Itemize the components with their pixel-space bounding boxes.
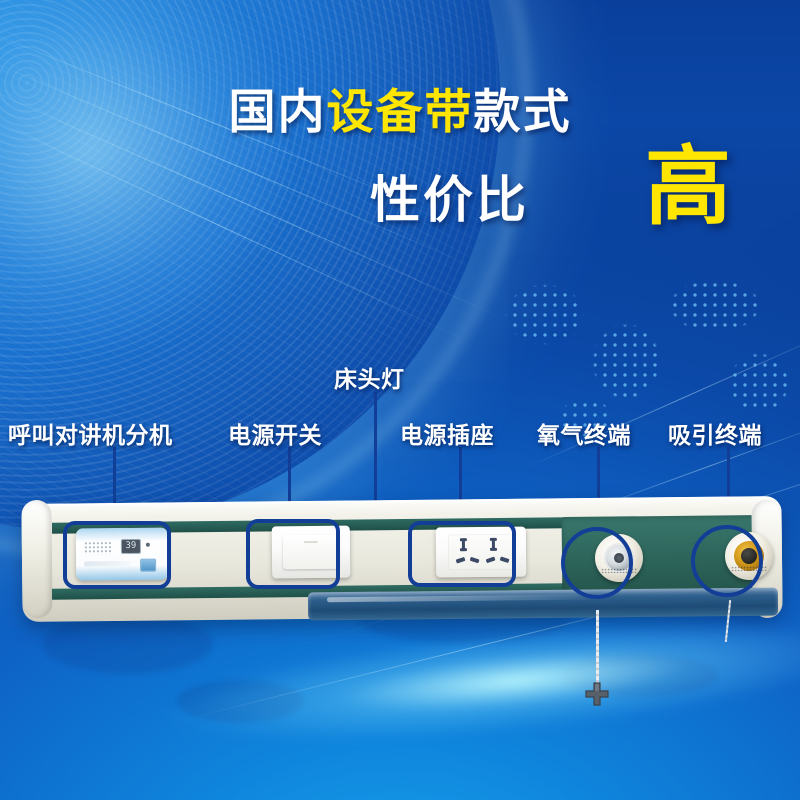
- headline-seg-3: 款式: [474, 85, 572, 138]
- panel-bottom-rail: [308, 588, 778, 621]
- highlight-box: [63, 521, 171, 589]
- highlight-box: [408, 521, 516, 587]
- callout-label-4: 氧气终端: [537, 416, 631, 450]
- headline-accent-char: 高: [645, 144, 731, 230]
- callout-label-2: 床头灯: [334, 360, 405, 394]
- highlight-circle: [561, 527, 633, 599]
- headline-line-2: 性价比 高: [0, 160, 800, 234]
- highlight-circle: [691, 525, 763, 597]
- callout-label-5: 吸引终端: [668, 416, 762, 450]
- headline-block: 国内设备带款式 性价比 高: [0, 88, 800, 234]
- promo-banner: 国内设备带款式 性价比 高 呼叫对讲机分机电源开关床头灯电源插座氧气终端吸引终端…: [0, 0, 800, 800]
- callout-label-3: 电源插座: [400, 416, 494, 450]
- pull-cord-handle-icon[interactable]: [581, 680, 613, 712]
- headline-line-1: 国内设备带款式: [0, 88, 800, 135]
- headline-seg-1: 国内: [229, 85, 327, 138]
- panel-end-cap-left: [21, 500, 52, 618]
- callout-label-0: 呼叫对讲机分机: [8, 416, 173, 450]
- headline-value-text: 性价比: [370, 160, 529, 232]
- callout-label-1: 电源开关: [228, 416, 322, 450]
- headline-seg-2: 设备带: [327, 85, 474, 138]
- bed-lamp-pull-cord[interactable]: [596, 610, 599, 688]
- highlight-box: [246, 519, 340, 589]
